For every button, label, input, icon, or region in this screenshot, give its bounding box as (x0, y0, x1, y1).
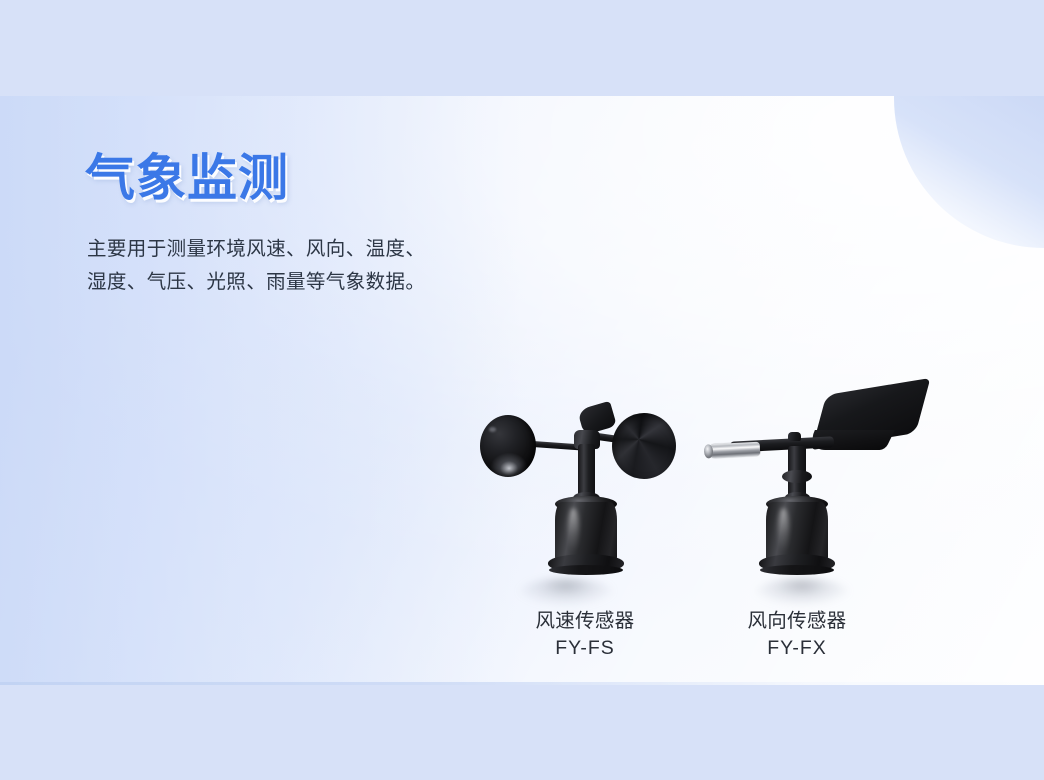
base-cylinder (555, 502, 617, 562)
windvane-counterweight (708, 442, 761, 459)
wind-vane-icon (702, 372, 932, 612)
windvane-base (766, 502, 828, 582)
base-cylinder (766, 502, 828, 562)
windvane-collar (782, 470, 812, 483)
base-gloss (778, 508, 789, 552)
base-foot-lip (760, 565, 834, 575)
product-name: 风向传感器 (692, 608, 902, 635)
wind-direction-sensor-caption: 风向传感器 FY-FX (692, 608, 902, 662)
anemometer-icon (470, 380, 700, 610)
bottom-band (0, 685, 1044, 780)
base-gloss (568, 508, 579, 552)
anemometer-cup-left (480, 415, 536, 477)
base-foot-lip (549, 565, 623, 575)
description-text: 主要用于测量环境风速、风向、温度、 湿度、气压、光照、雨量等气象数据。 (87, 233, 425, 299)
product-model: FY-FS (480, 635, 690, 662)
top-band (0, 0, 1044, 96)
description-line-1: 主要用于测量环境风速、风向、温度、 (87, 233, 425, 266)
windvane-post-cap (788, 432, 801, 441)
anemometer-base (555, 502, 617, 582)
page-title: 气象监测 (85, 138, 289, 210)
wind-speed-sensor-caption: 风速传感器 FY-FS (480, 608, 690, 662)
description-line-2: 湿度、气压、光照、雨量等气象数据。 (87, 266, 425, 299)
anemometer-cup-right (612, 413, 676, 479)
product-model: FY-FX (692, 635, 902, 662)
product-name: 风速传感器 (480, 608, 690, 635)
weather-monitoring-slide: 气象监测 主要用于测量环境风速、风向、温度、 湿度、气压、光照、雨量等气象数据。 (0, 0, 1044, 780)
